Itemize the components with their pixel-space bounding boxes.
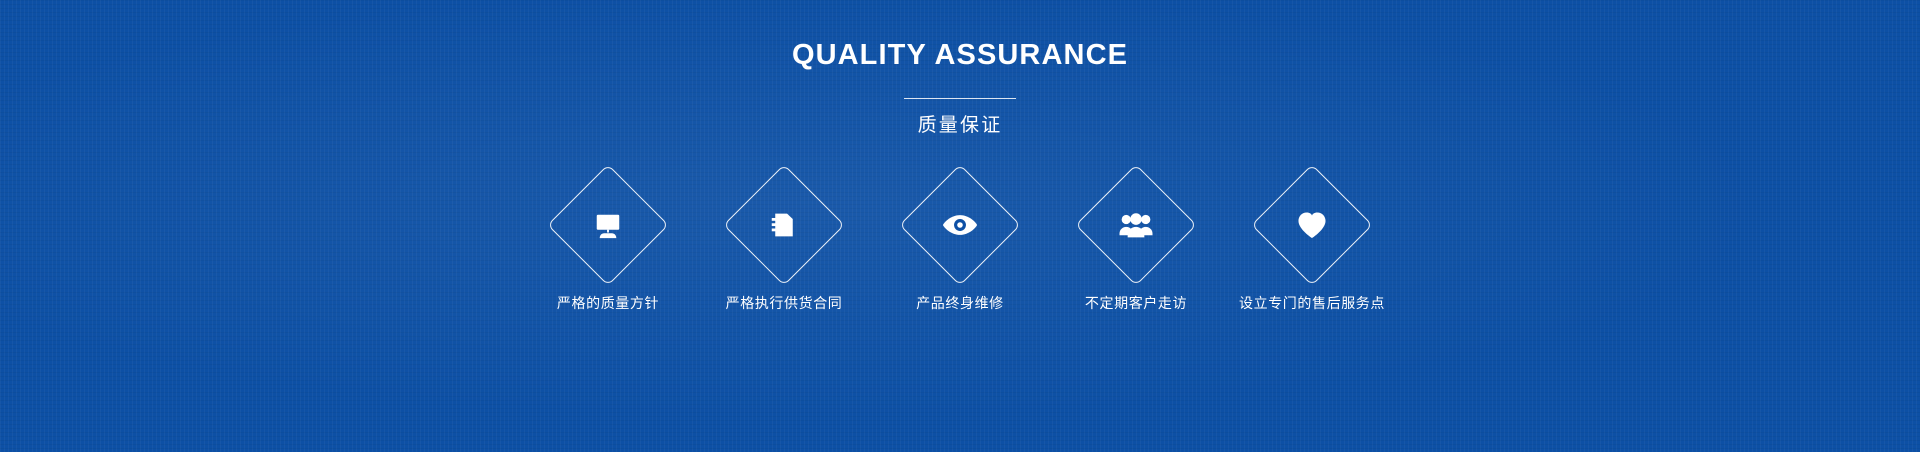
feature-item-label: 不定期客户走访 — [1085, 296, 1187, 313]
diamond-frame — [899, 164, 1021, 286]
feature-item-supply-contract[interactable]: 严格执行供货合同 — [696, 182, 872, 313]
feature-item-label: 严格执行供货合同 — [726, 296, 843, 313]
quality-assurance-banner: QUALITY ASSURANCE 质量保证 严格的质量方针 — [0, 0, 1920, 452]
banner-heading: QUALITY ASSURANCE 质量保证 — [155, 0, 1765, 135]
eye-icon — [938, 203, 982, 247]
presentation-chart-icon — [586, 203, 630, 247]
feature-item-after-sales-service[interactable]: 设立专门的售后服务点 — [1224, 182, 1400, 313]
heart-icon — [1290, 203, 1334, 247]
title-divider — [904, 98, 1016, 99]
banner-content: QUALITY ASSURANCE 质量保证 严格的质量方针 — [155, 0, 1765, 452]
feature-item-label: 严格的质量方针 — [557, 296, 659, 313]
feature-items-row: 严格的质量方针 严格执行供货合同 — [155, 182, 1765, 313]
feature-item-label: 设立专门的售后服务点 — [1239, 296, 1385, 313]
diamond-frame — [1075, 164, 1197, 286]
page-subtitle: 质量保证 — [155, 116, 1765, 135]
document-contract-icon — [762, 203, 806, 247]
page-title: QUALITY ASSURANCE — [155, 41, 1765, 70]
diamond-frame — [723, 164, 845, 286]
feature-item-quality-policy[interactable]: 严格的质量方针 — [520, 182, 696, 313]
feature-item-customer-visits[interactable]: 不定期客户走访 — [1048, 182, 1224, 313]
diamond-frame — [547, 164, 669, 286]
feature-item-label: 产品终身维修 — [916, 296, 1004, 313]
people-group-icon — [1114, 203, 1158, 247]
feature-item-lifetime-repair[interactable]: 产品终身维修 — [872, 182, 1048, 313]
diamond-frame — [1251, 164, 1373, 286]
